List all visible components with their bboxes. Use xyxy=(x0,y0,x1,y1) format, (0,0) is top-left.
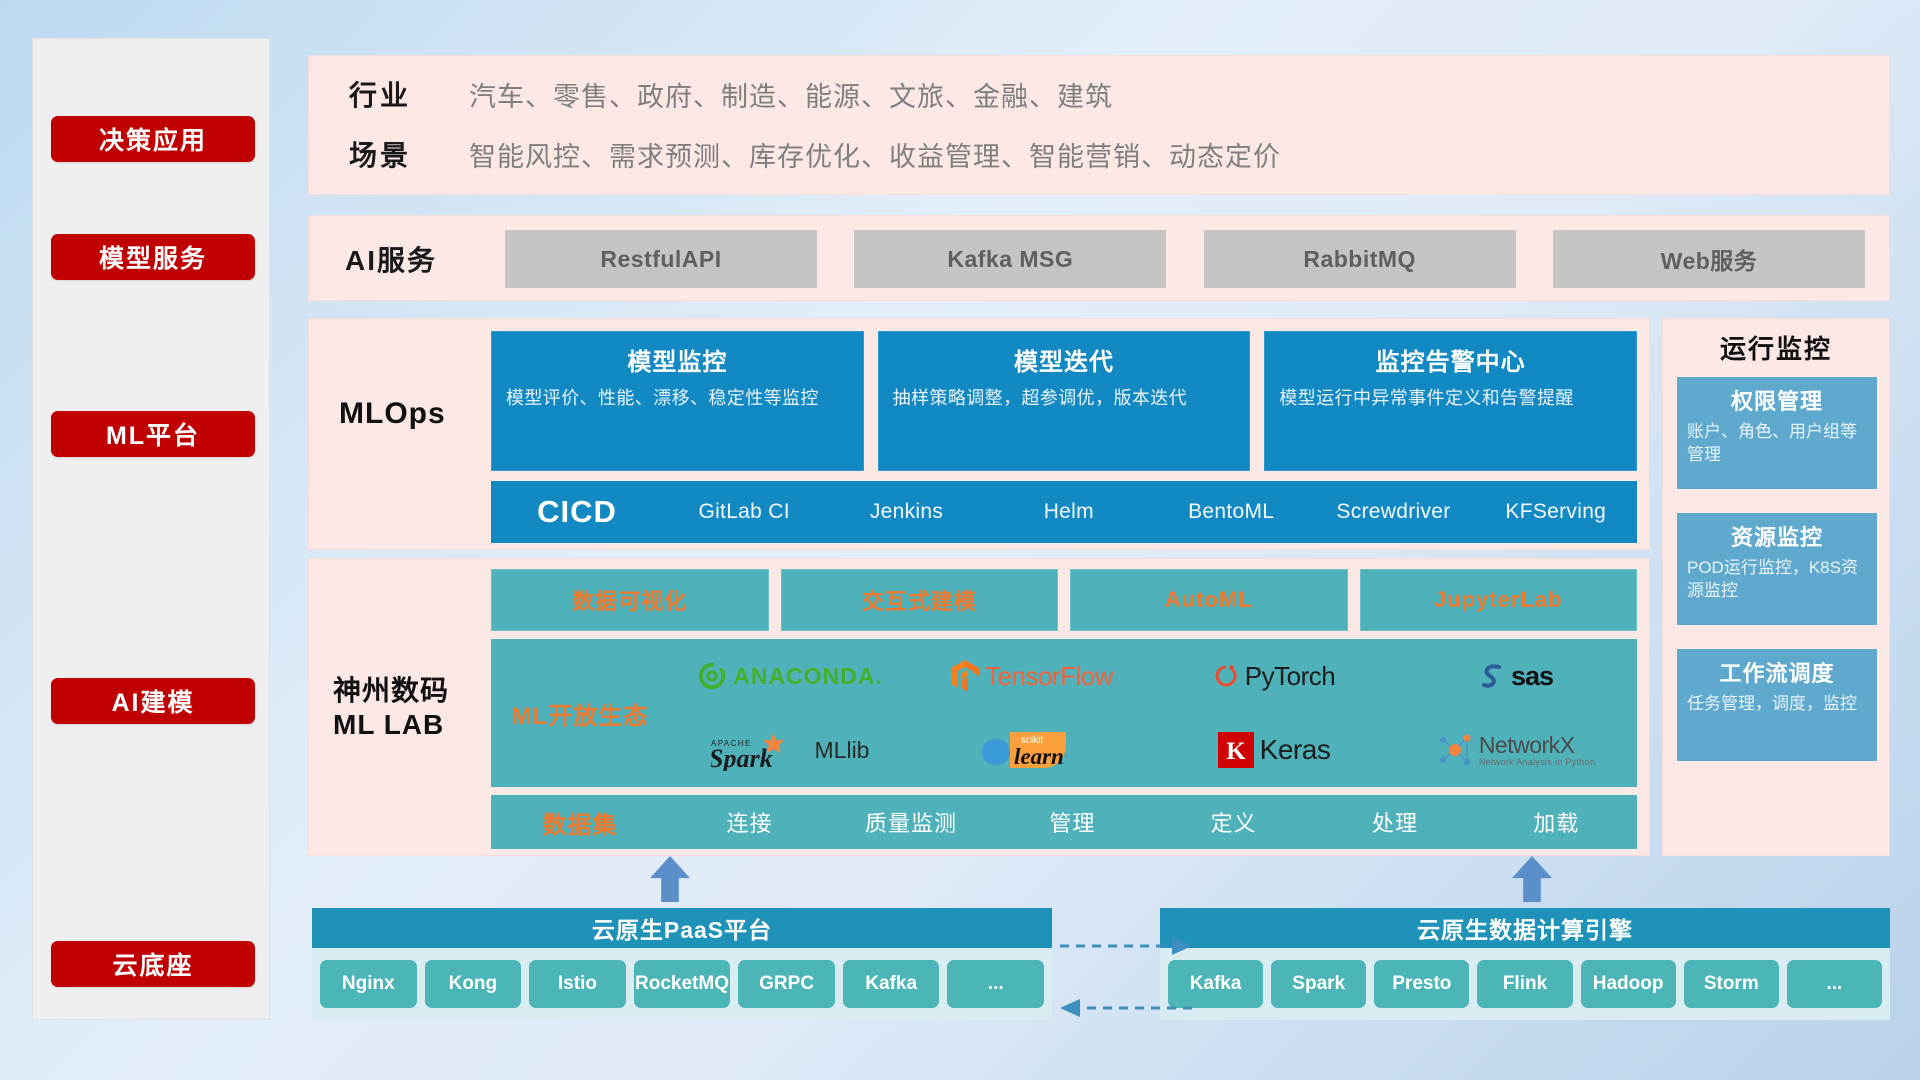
tool-data-visualization[interactable]: 数据可视化 xyxy=(491,569,769,631)
tensorflow-wordmark: TensorFlow xyxy=(985,661,1113,692)
ai-service-label: AI服务 xyxy=(345,216,437,302)
bidirectional-connector xyxy=(1056,930,1196,1026)
sas-icon xyxy=(1479,661,1505,691)
compute-up-arrow-icon xyxy=(1512,856,1552,902)
mlops-card-row: 模型监控 模型评价、性能、漂移、稳定性等监控 模型迭代 抽样策略调整，超参调优，… xyxy=(491,331,1637,471)
scenario-label: 场景 xyxy=(349,134,469,174)
card-title: 模型迭代 xyxy=(893,342,1236,377)
cicd-item-helm[interactable]: Helm xyxy=(988,501,1150,523)
dataset-item-connect[interactable]: 连接 xyxy=(669,806,830,838)
compute-chip-storm[interactable]: Storm xyxy=(1684,960,1779,1008)
compute-chip-row: Kafka Spark Presto Flink Hadoop Storm ..… xyxy=(1160,948,1890,1020)
application-layer-panel: 行业 汽车、零售、政府、制造、能源、文旅、金融、建筑 场景 智能风控、需求预测、… xyxy=(308,55,1890,195)
card-title: 权限管理 xyxy=(1687,384,1867,416)
paas-chip-istio[interactable]: Istio xyxy=(529,960,626,1008)
connector-arrowhead-right xyxy=(1172,937,1192,955)
paas-chip-grpc[interactable]: GRPC xyxy=(738,960,835,1008)
tensorflow-logo: TensorFlow xyxy=(951,660,1113,692)
layer-rail: 决策应用 模型服务 ML平台 AI建模 云底座 xyxy=(32,38,270,1020)
card-desc: 模型评价、性能、漂移、稳定性等监控 xyxy=(506,386,849,411)
compute-header: 云原生数据计算引擎 xyxy=(1160,908,1890,948)
ml-ecosystem-title: ML开放生态 xyxy=(491,696,669,731)
sas-wordmark: sas xyxy=(1511,661,1553,692)
networkx-tagline: Network Analysis in Python xyxy=(1479,758,1595,767)
paas-header: 云原生PaaS平台 xyxy=(312,908,1052,948)
card-desc: 任务管理，调度，监控 xyxy=(1687,693,1867,716)
tool-interactive-modeling[interactable]: 交互式建模 xyxy=(781,569,1059,631)
scikit-learn-logo: scikit learn xyxy=(980,726,1084,774)
dataset-item-process[interactable]: 处理 xyxy=(1314,806,1475,838)
runtime-monitoring-title: 运行监控 xyxy=(1663,329,1889,366)
sidebar-item-ai-modeling[interactable]: AI建模 xyxy=(51,678,255,724)
spark-icon: APACHE Spark xyxy=(711,729,807,771)
sidebar-item-cloud-base[interactable]: 云底座 xyxy=(51,941,255,987)
pytorch-wordmark: PyTorch xyxy=(1245,661,1335,692)
cicd-item-screwdriver[interactable]: Screwdriver xyxy=(1312,501,1474,523)
ai-service-layer-panel: AI服务 RestfulAPI Kafka MSG RabbitMQ Web服务 xyxy=(308,215,1890,301)
ml-lab-label: 神州数码 ML LAB xyxy=(333,559,493,857)
networkx-wordmark: NetworkX xyxy=(1479,734,1595,757)
tool-automl[interactable]: AutoML xyxy=(1070,569,1348,631)
keras-icon: K xyxy=(1218,732,1254,768)
dataset-item-manage[interactable]: 管理 xyxy=(992,806,1153,838)
svg-text:Spark: Spark xyxy=(711,744,773,771)
paas-chip-row: Nginx Kong Istio RocketMQ GRPC Kafka ... xyxy=(312,948,1052,1020)
pytorch-logo: PyTorch xyxy=(1213,661,1335,692)
ai-service-chip-row: RestfulAPI Kafka MSG RabbitMQ Web服务 xyxy=(505,230,1865,288)
paas-up-arrow-icon xyxy=(650,856,690,902)
modeling-layer-panel: 神州数码 ML LAB 数据可视化 交互式建模 AutoML JupyterLa… xyxy=(308,558,1650,856)
networkx-icon xyxy=(1437,732,1473,768)
ecosystem-logo-grid: ANACONDA. TensorFlow PyTorch xyxy=(669,639,1637,787)
paas-chip-more[interactable]: ... xyxy=(947,960,1044,1008)
card-desc: 模型运行中异常事件定义和告警提醒 xyxy=(1279,386,1622,411)
anaconda-logo: ANACONDA. xyxy=(697,661,883,691)
ml-ecosystem-band: ML开放生态 ANACONDA. TensorFlow xyxy=(491,639,1637,787)
compute-chip-presto[interactable]: Presto xyxy=(1374,960,1469,1008)
connector-arrowhead-left xyxy=(1060,999,1080,1017)
paas-chip-kong[interactable]: Kong xyxy=(425,960,522,1008)
ml-lab-label-line2: ML LAB xyxy=(333,708,444,742)
anaconda-icon xyxy=(697,661,727,691)
keras-logo: K Keras xyxy=(1218,732,1331,768)
mlops-card-model-iteration[interactable]: 模型迭代 抽样策略调整，超参调优，版本迭代 xyxy=(878,331,1251,471)
paas-chip-nginx[interactable]: Nginx xyxy=(320,960,417,1008)
dataset-title: 数据集 xyxy=(491,805,669,840)
compute-chip-spark[interactable]: Spark xyxy=(1271,960,1366,1008)
mlops-card-model-monitoring[interactable]: 模型监控 模型评价、性能、漂移、稳定性等监控 xyxy=(491,331,864,471)
ops-card-resource[interactable]: 资源监控 POD运行监控，K8S资源监控 xyxy=(1677,513,1877,625)
industry-label: 行业 xyxy=(349,74,469,114)
pytorch-icon xyxy=(1213,661,1239,691)
runtime-monitoring-panel: 运行监控 权限管理 账户、角色、用户组等管理 资源监控 POD运行监控，K8S资… xyxy=(1662,318,1890,856)
mlops-layer-panel: MLOps 模型监控 模型评价、性能、漂移、稳定性等监控 模型迭代 抽样策略调整… xyxy=(308,318,1650,550)
mlops-card-alert-center[interactable]: 监控告警中心 模型运行中异常事件定义和告警提醒 xyxy=(1264,331,1637,471)
card-desc: 抽样策略调整，超参调优，版本迭代 xyxy=(893,386,1236,411)
cicd-item-kfserving[interactable]: KFServing xyxy=(1475,501,1637,523)
service-chip-restfulapi[interactable]: RestfulAPI xyxy=(505,230,817,288)
service-chip-kafka-msg[interactable]: Kafka MSG xyxy=(854,230,1166,288)
scenario-list: 智能风控、需求预测、库存优化、收益管理、智能营销、动态定价 xyxy=(469,135,1281,174)
tensorflow-icon xyxy=(951,660,979,692)
dataset-item-load[interactable]: 加载 xyxy=(1476,806,1637,838)
dataset-item-quality[interactable]: 质量监测 xyxy=(830,806,991,838)
card-title: 工作流调度 xyxy=(1687,656,1867,688)
cicd-item-jenkins[interactable]: Jenkins xyxy=(825,501,987,523)
dataset-item-define[interactable]: 定义 xyxy=(1153,806,1314,838)
sas-logo: sas xyxy=(1479,661,1553,692)
sidebar-item-model-service[interactable]: 模型服务 xyxy=(51,234,255,280)
service-chip-rabbitmq[interactable]: RabbitMQ xyxy=(1204,230,1516,288)
compute-chip-more[interactable]: ... xyxy=(1787,960,1882,1008)
svg-text:learn: learn xyxy=(1014,744,1064,769)
service-chip-web[interactable]: Web服务 xyxy=(1553,230,1865,288)
scenario-row: 场景 智能风控、需求预测、库存优化、收益管理、智能营销、动态定价 xyxy=(349,134,1281,174)
mlops-label: MLOps xyxy=(339,319,446,509)
cicd-title: CICD xyxy=(491,494,663,530)
sidebar-item-decision-app[interactable]: 决策应用 xyxy=(51,116,255,162)
ops-card-workflow[interactable]: 工作流调度 任务管理，调度，监控 xyxy=(1677,649,1877,761)
industry-list: 汽车、零售、政府、制造、能源、文旅、金融、建筑 xyxy=(469,75,1113,114)
ml-lab-label-line1: 神州数码 xyxy=(333,674,449,708)
spark-mllib-logo: APACHE Spark MLlib xyxy=(711,729,870,771)
paas-chip-rocketmq[interactable]: RocketMQ xyxy=(634,960,731,1008)
sidebar-item-ml-platform[interactable]: ML平台 xyxy=(51,411,255,457)
dataset-band: 数据集 连接 质量监测 管理 定义 处理 加载 xyxy=(491,795,1637,849)
tool-jupyterlab[interactable]: JupyterLab xyxy=(1360,569,1638,631)
networkx-logo: NetworkX Network Analysis in Python xyxy=(1437,732,1595,768)
compute-chip-hadoop[interactable]: Hadoop xyxy=(1581,960,1676,1008)
card-title: 监控告警中心 xyxy=(1279,342,1622,377)
card-title: 资源监控 xyxy=(1687,520,1867,552)
card-desc: POD运行监控，K8S资源监控 xyxy=(1687,557,1867,603)
industry-row: 行业 汽车、零售、政府、制造、能源、文旅、金融、建筑 xyxy=(349,74,1113,114)
cicd-item-gitlab-ci[interactable]: GitLab CI xyxy=(663,501,825,523)
cicd-bar: CICD GitLab CI Jenkins Helm BentoML Scre… xyxy=(491,481,1637,543)
card-desc: 账户、角色、用户组等管理 xyxy=(1687,421,1867,467)
modeling-tool-row: 数据可视化 交互式建模 AutoML JupyterLab xyxy=(491,569,1637,631)
anaconda-wordmark: ANACONDA. xyxy=(733,663,883,690)
paas-chip-kafka[interactable]: Kafka xyxy=(843,960,940,1008)
scikit-learn-icon: scikit learn xyxy=(980,726,1084,774)
svg-text:K: K xyxy=(1226,738,1246,765)
card-title: 模型监控 xyxy=(506,342,849,377)
mllib-wordmark: MLlib xyxy=(815,737,870,764)
compute-chip-flink[interactable]: Flink xyxy=(1477,960,1572,1008)
keras-wordmark: Keras xyxy=(1260,734,1331,766)
cicd-item-bentoml[interactable]: BentoML xyxy=(1150,501,1312,523)
ops-card-permission[interactable]: 权限管理 账户、角色、用户组等管理 xyxy=(1677,377,1877,489)
